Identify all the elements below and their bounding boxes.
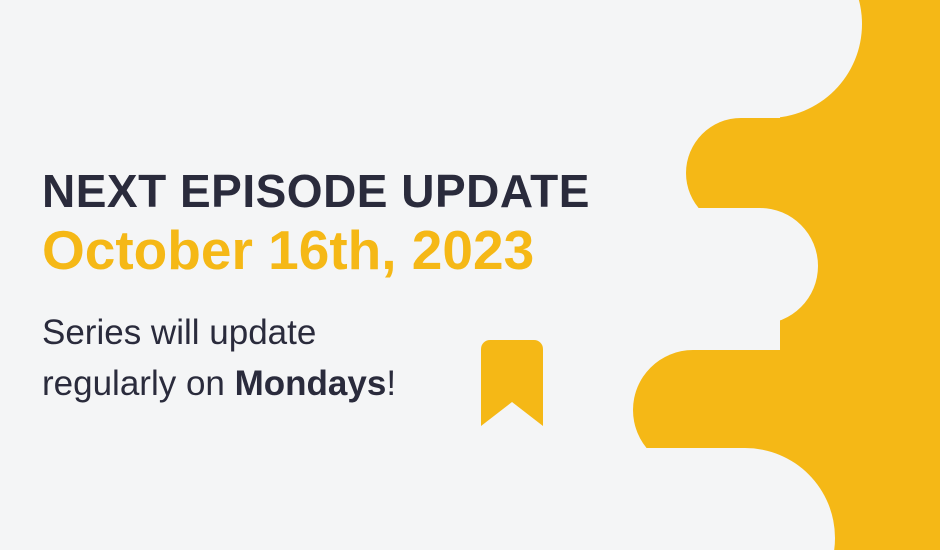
schedule-note-line2-suffix: ! xyxy=(386,364,396,403)
next-episode-update-banner: NEXT EPISODE UPDATE October 16th, 2023 S… xyxy=(0,0,940,550)
page-title: NEXT EPISODE UPDATE xyxy=(42,168,702,214)
schedule-note: Series will update regularly on Mondays! xyxy=(42,308,472,410)
bookmark-ribbon-icon xyxy=(481,340,543,426)
schedule-note-line1: Series will update xyxy=(42,313,316,352)
episode-date: October 16th, 2023 xyxy=(42,222,702,280)
schedule-note-day: Mondays xyxy=(235,364,387,403)
banner-text-block: NEXT EPISODE UPDATE October 16th, 2023 S… xyxy=(42,168,702,409)
schedule-note-line2-prefix: regularly on xyxy=(42,364,235,403)
